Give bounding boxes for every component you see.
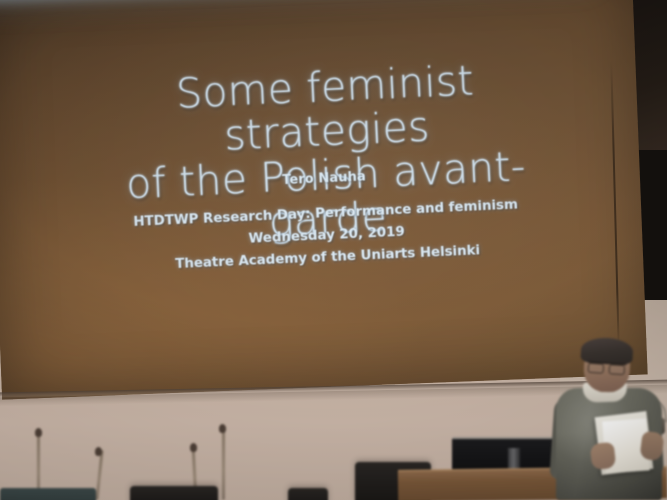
slide-content: Some feminist strategies of the Polish a… (0, 0, 667, 435)
presenter-hand-left (590, 442, 617, 470)
chair-back (288, 488, 328, 500)
glasses-lens-left (588, 363, 605, 374)
glasses-lens-right (609, 364, 626, 375)
chair-post-knob (190, 443, 197, 452)
chair-back (130, 486, 218, 500)
lecture-hall-photo: Some feminist strategies of the Polish a… (0, 0, 667, 500)
slide-title-line-1: Some feminist strategies (175, 56, 475, 159)
glasses-icon (588, 361, 627, 374)
chair-post-knob (219, 424, 226, 433)
chair-post-knob (95, 447, 102, 456)
chair-post-knob (35, 428, 42, 437)
chair-seat (0, 488, 96, 500)
chair-post (222, 428, 225, 500)
